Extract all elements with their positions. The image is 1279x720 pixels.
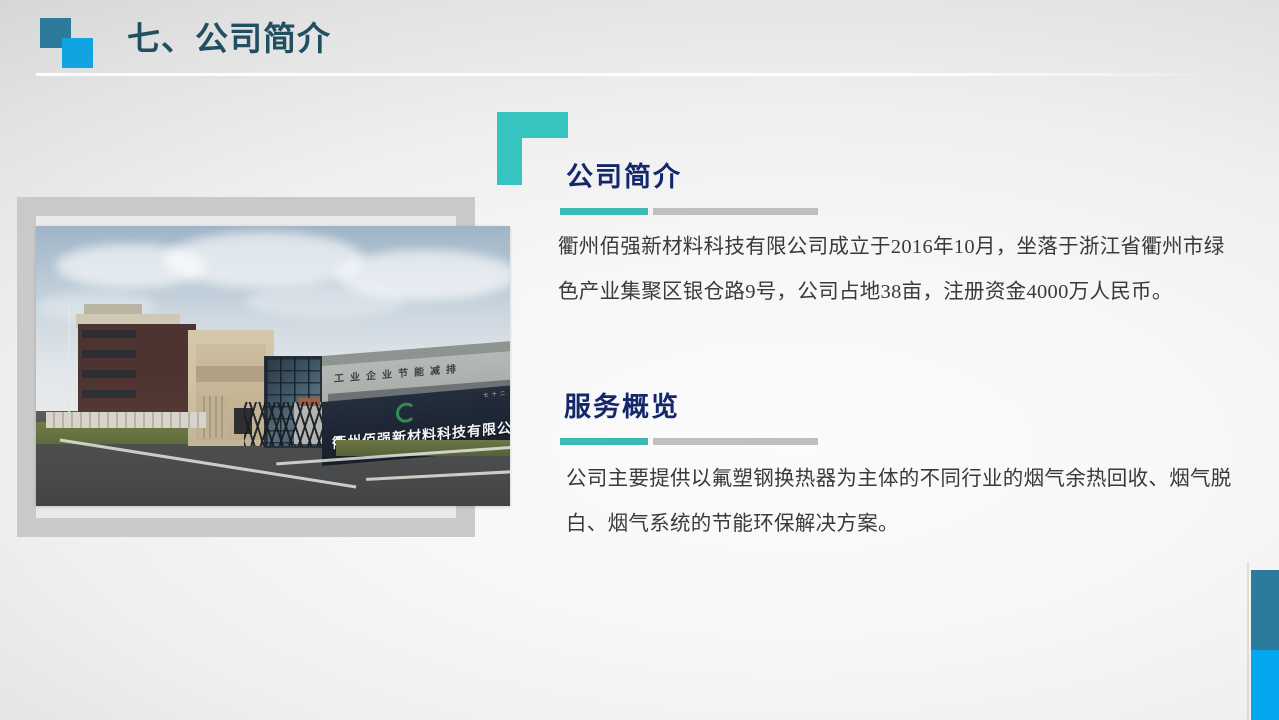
sign-small-tag: 七 十 二 xyxy=(483,390,506,399)
accent-hairline xyxy=(1247,562,1249,720)
divider-gray-segment xyxy=(653,438,818,445)
section-service-body: 公司主要提供以氟塑钢换热器为主体的不同行业的烟气余热回收、烟气脱白、烟气系统的节… xyxy=(566,457,1258,547)
retractable-gate xyxy=(244,402,328,446)
cloud-shape xyxy=(246,284,406,318)
accent-bar-bottom xyxy=(1251,650,1279,720)
slide-canvas: 七、公司简介 工业企业节能减排 xyxy=(0,0,1279,720)
page-title: 七、公司简介 xyxy=(127,18,331,60)
office-window-grid xyxy=(80,330,142,414)
section-service-divider xyxy=(560,438,825,445)
section-service: 服务概览 公司主要提供以氟塑钢换热器为主体的不同行业的烟气余热回收、烟气脱白、烟… xyxy=(558,385,1258,547)
divider-accent-segment xyxy=(560,438,648,445)
header-square-light-icon xyxy=(62,38,93,68)
section-about-body: 衢州佰强新材料科技有限公司成立于2016年10月，坐落于浙江省衢州市绿色产业集聚… xyxy=(558,225,1242,315)
accent-bar-top xyxy=(1251,570,1279,650)
divider-accent-segment xyxy=(560,208,648,215)
section-about-title: 公司简介 xyxy=(566,155,1248,194)
company-facility-photo: 工业企业节能减排 七 十 二 衢州佰强新材料科技有限公司 xyxy=(36,226,510,506)
section-about-divider xyxy=(560,208,825,215)
company-logo-icon xyxy=(396,402,416,424)
perimeter-wall xyxy=(46,412,206,428)
header-divider xyxy=(36,73,1242,76)
light-pole xyxy=(68,304,70,422)
section-about: 公司简介 衢州佰强新材料科技有限公司成立于2016年10月，坐落于浙江省衢州市绿… xyxy=(558,155,1248,315)
cloud-shape xyxy=(164,232,364,288)
divider-gray-segment xyxy=(653,208,818,215)
section-service-title: 服务概览 xyxy=(564,385,1258,424)
